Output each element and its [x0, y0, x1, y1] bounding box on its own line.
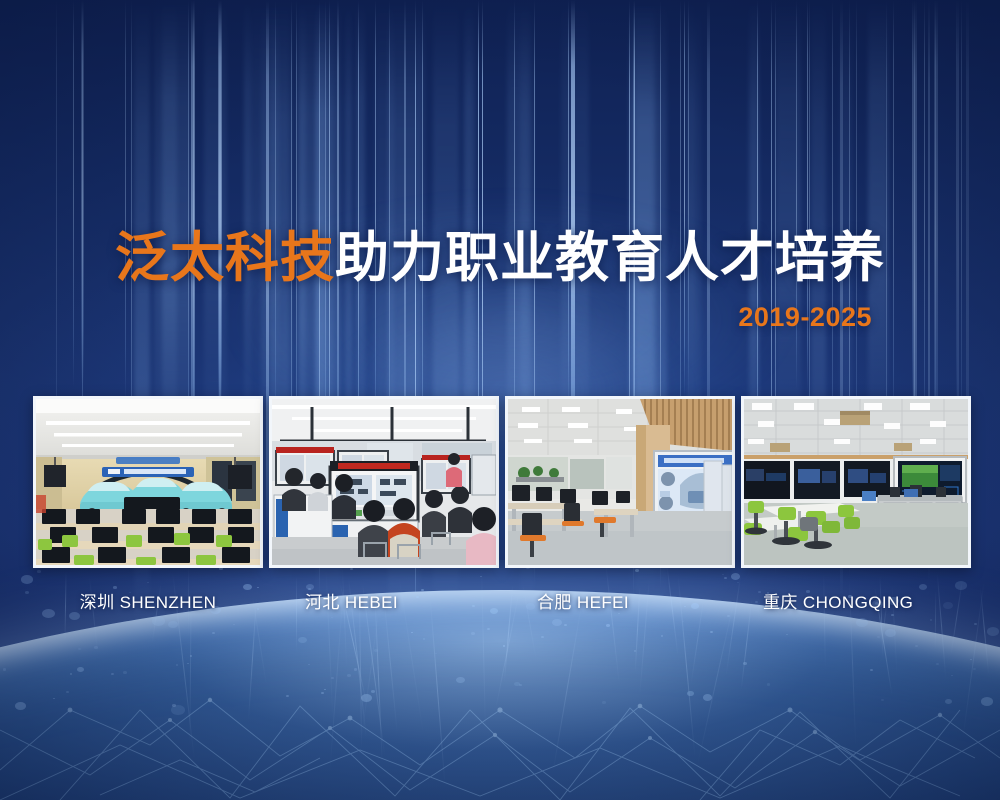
particle-dot	[123, 671, 127, 674]
photo-hebei-training-workstations	[269, 396, 499, 568]
particle-dot	[602, 701, 606, 704]
particle-dot	[915, 645, 918, 647]
particle-dot	[661, 635, 663, 637]
light-ray	[961, 0, 962, 444]
poster-canvas: 泛太科技助力职业教育人才培养 2019-2025	[0, 0, 1000, 800]
particle-dot	[877, 636, 880, 638]
particle-dot	[856, 618, 868, 627]
particle-dot	[936, 663, 939, 665]
gallery-item[interactable]: 合肥 HEFEI	[505, 396, 735, 613]
light-ray-soft	[204, 0, 227, 453]
year-range: 2019-2025	[0, 302, 872, 333]
particle-dot	[987, 627, 999, 636]
particle-dot	[25, 591, 29, 594]
particle-dot	[66, 691, 69, 693]
particle-dot	[930, 619, 932, 621]
particle-dot	[3, 668, 6, 671]
particle-dot	[15, 702, 26, 710]
page-title: 泛太科技助力职业教育人才培养	[0, 228, 1000, 288]
light-ray	[121, 0, 122, 427]
particle-dot	[70, 673, 72, 675]
gallery-item[interactable]: 深圳 SHENZHEN	[33, 396, 263, 613]
particle-dot	[435, 653, 437, 654]
gallery-caption: 重庆 CHONGQING	[741, 588, 971, 613]
particle-dot	[981, 697, 993, 706]
particle-dot	[53, 698, 55, 699]
particle-dot	[69, 612, 80, 620]
light-ray	[812, 0, 813, 445]
particle-dot	[298, 637, 307, 643]
light-ray	[125, 0, 126, 404]
particle-dot	[503, 645, 505, 647]
light-streak	[697, 595, 735, 764]
photo-shenzhen-smart-car-lab	[33, 396, 263, 568]
light-streak	[248, 597, 257, 720]
particle-dot	[411, 632, 413, 633]
photo-hefei-exhibit-hall	[505, 396, 735, 568]
light-ray	[893, 0, 894, 428]
particle-dot	[111, 673, 114, 675]
particle-dot	[78, 648, 81, 650]
particle-dot	[456, 677, 465, 683]
particle-dot	[970, 659, 972, 660]
particle-dot	[514, 682, 520, 686]
particle-dot	[786, 634, 788, 635]
particle-dot	[176, 664, 178, 666]
particle-dot	[212, 632, 215, 634]
particle-dot	[233, 624, 235, 625]
particle-dot	[168, 621, 178, 628]
light-ray	[924, 0, 925, 437]
particle-dot	[371, 690, 375, 693]
gallery-caption: 合肥 HEFEI	[505, 588, 735, 613]
gallery-caption: 河北 HEBEI	[269, 588, 499, 613]
particle-dot	[870, 669, 873, 671]
particle-dot	[347, 674, 351, 677]
light-streak	[430, 596, 446, 784]
light-ray	[218, 0, 222, 409]
particle-dot	[286, 695, 289, 697]
headline-rest: 助力职业教育人才培养	[335, 228, 885, 288]
particle-dot	[171, 705, 185, 715]
particle-dot	[487, 628, 490, 630]
particle-dot	[21, 575, 33, 584]
particle-dot	[471, 632, 475, 635]
gallery-item[interactable]: 河北 HEBEI	[269, 396, 499, 613]
particle-dot	[881, 699, 884, 701]
gallery-strip: 深圳 SHENZHEN	[33, 396, 967, 613]
gallery-caption: 深圳 SHENZHEN	[33, 588, 263, 613]
particle-dot	[77, 667, 84, 672]
light-streak	[552, 601, 582, 773]
light-ray	[912, 0, 913, 404]
headline-block: 泛太科技助力职业教育人才培养 2019-2025	[0, 228, 1000, 333]
particle-dot	[767, 683, 770, 686]
particle-dot	[618, 613, 620, 614]
particle-dot	[973, 668, 976, 670]
particle-dot	[354, 668, 357, 671]
particle-dot	[564, 624, 567, 626]
particle-dot	[710, 631, 713, 633]
light-streak	[359, 592, 362, 749]
photo-chongqing-smart-classroom	[741, 396, 971, 568]
particle-dot	[308, 664, 310, 665]
brand-name: 泛太科技	[115, 228, 335, 288]
particle-dot	[187, 663, 189, 664]
particle-dot	[606, 624, 610, 627]
particle-dot	[331, 617, 333, 618]
light-streak	[374, 593, 382, 762]
particle-dot	[321, 692, 324, 694]
light-streak	[383, 594, 398, 734]
particle-dot	[423, 638, 425, 640]
particle-dot	[324, 689, 326, 690]
particle-dot	[951, 675, 953, 676]
gallery-item[interactable]: 重庆 CHONGQING	[741, 396, 971, 613]
particle-dot	[945, 699, 952, 704]
particle-dot	[552, 619, 562, 626]
particle-dot	[541, 636, 544, 638]
